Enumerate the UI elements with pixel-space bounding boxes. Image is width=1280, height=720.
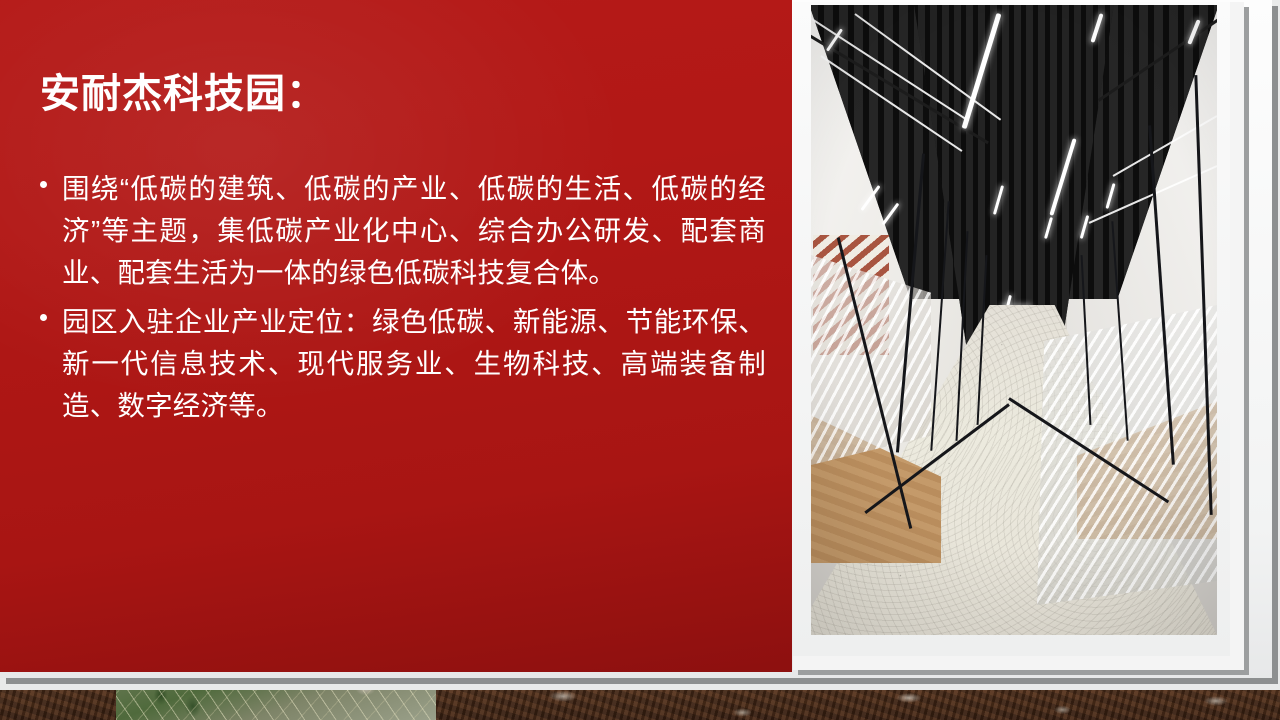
photo-frame (793, 2, 1244, 670)
bottom-photo-band (0, 686, 1280, 720)
linear-light (860, 185, 880, 211)
slide-canvas: 安耐杰科技园： 围绕“低碳的建筑、低碳的产业、低碳的生活、低碳的经济”等主题，集… (0, 0, 1280, 720)
glass-partition-right (1037, 305, 1217, 605)
linear-light (826, 28, 843, 51)
red-content-panel: 安耐杰科技园： 围绕“低碳的建筑、低碳的产业、低碳的生活、低碳的经济”等主题，集… (0, 0, 792, 672)
linear-light (1044, 217, 1053, 239)
linear-light (993, 185, 1004, 215)
list-item: 园区入驻企业产业定位：绿色低碳、新能源、节能环保、新一代信息技术、现代服务业、生… (36, 301, 766, 426)
page-title: 安耐杰科技园： (40, 70, 740, 118)
list-item: 围绕“低碳的建筑、低碳的产业、低碳的生活、低碳的经济”等主题，集低碳产业化中心、… (36, 168, 766, 293)
linear-light (1080, 215, 1089, 239)
linear-light (1105, 183, 1115, 209)
photo-mat (793, 2, 1230, 656)
linear-light (1187, 19, 1200, 45)
slide-card: 安耐杰科技园： 围绕“低碳的建筑、低碳的产业、低碳的生活、低碳的经济”等主题，集… (0, 0, 1280, 690)
linear-light (962, 13, 1002, 129)
slide-card-inner: 安耐杰科技园： 围绕“低碳的建筑、低碳的产业、低碳的生活、低碳的经济”等主题，集… (0, 0, 1272, 678)
linear-light (882, 203, 900, 226)
bullet-list: 围绕“低碳的建筑、低碳的产业、低碳的生活、低碳的经济”等主题，集低碳产业化中心、… (36, 168, 766, 435)
office-corridor-photo (811, 5, 1217, 635)
linear-light (1049, 138, 1076, 216)
linear-light (1090, 13, 1103, 43)
aerial-site-photo-strip (116, 686, 436, 720)
